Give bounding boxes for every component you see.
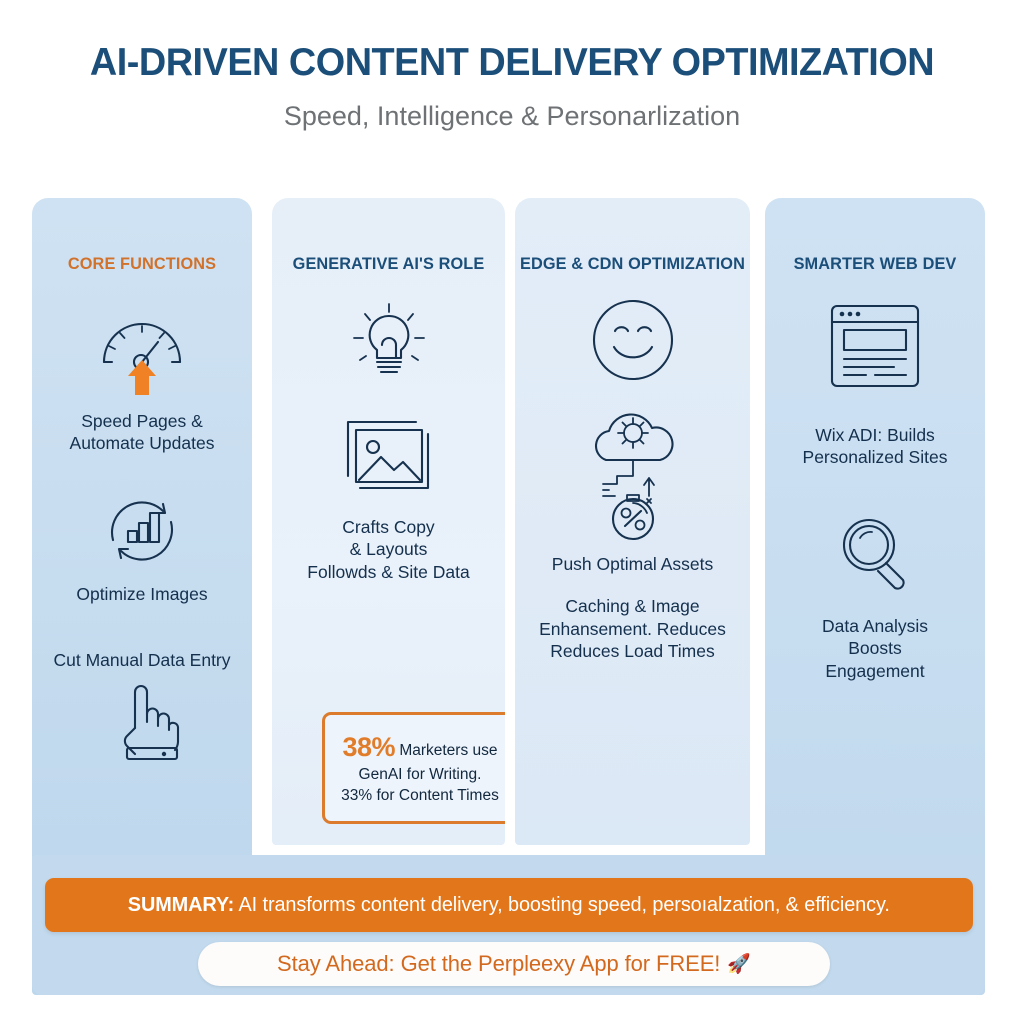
caption-core-2: Optimize Images	[32, 583, 252, 605]
summary-bar: SUMMARY: AI transforms content delivery,…	[45, 878, 973, 932]
page-title: AI-DRIVEN CONTENT DELIVERY OPTIMIZATION	[15, 42, 1008, 85]
caption-line: Speed Pages &	[40, 410, 244, 432]
caption-genai: Crafts Copy & Layouts Followds & Site Da…	[272, 516, 505, 583]
caption-line: Push Optimal Assets	[523, 553, 742, 575]
caption-line: Reduces Load Times	[523, 640, 742, 662]
caption-core-3: Cut Manual Data Entry	[32, 649, 252, 671]
smiley-face-icon	[515, 290, 750, 390]
caption-line: Followds & Site Data	[280, 561, 497, 583]
caption-line: Personalized Sites	[773, 446, 977, 468]
browser-window-icon	[765, 298, 985, 394]
summary-body: AI transforms content delivery, boosting…	[234, 893, 890, 916]
pointing-hand-icon	[32, 678, 252, 762]
magnifying-glass-icon	[765, 509, 985, 601]
columns-container: CORE FUNCTIONS Speed Pages & Automate Up…	[32, 198, 985, 848]
cta-label: Stay Ahead: Get the Perpleexy App for FR…	[277, 951, 720, 977]
caption-line: Optimize Images	[40, 583, 244, 605]
poster-header: AI-DRIVEN CONTENT DELIVERY OPTIMIZATION …	[0, 42, 1024, 132]
caption-line: Automate Updates	[40, 432, 244, 454]
stat-text-line-3: 33% for Content Times	[341, 787, 499, 804]
page-subtitle: Speed, Intelligence & Personarlization	[0, 101, 1024, 132]
stat-text-line-2: GenAI for Writing.	[359, 766, 482, 783]
column-edge-cdn-optimization: EDGE & CDN OPTIMIZATION	[515, 198, 750, 845]
summary-text: SUMMARY: AI transforms content delivery,…	[128, 893, 890, 917]
caption-line: Engagement	[773, 660, 977, 682]
lightbulb-icon	[272, 296, 505, 392]
caption-core-1: Speed Pages & Automate Updates	[32, 410, 252, 455]
stat-value: 38%	[342, 732, 395, 762]
caption-webdev-1: Wix ADI: Builds Personalized Sites	[765, 424, 985, 469]
caption-webdev-2: Data Analysis Boosts Engagement	[765, 615, 985, 682]
column-heading-core-functions: CORE FUNCTIONS	[36, 254, 247, 274]
column-generative-ai-role: GENERATIVE AI'S ROLE	[272, 198, 505, 845]
caption-line: & Layouts	[280, 538, 497, 560]
column-heading-generative-ai-role: GENERATIVE AI'S ROLE	[277, 254, 501, 274]
column-heading-edge-cdn-optimization: EDGE & CDN OPTIMIZATION	[520, 254, 746, 274]
stat-text-line-1: Marketers use	[399, 742, 497, 759]
stat-box-genai: 38% Marketers use GenAI for Writing. 33%…	[322, 712, 505, 824]
caption-edge-2: Caching & Image Enhansement. Reduces Red…	[515, 595, 750, 662]
column-heading-smarter-web-dev: SMARTER WEB DEV	[769, 254, 980, 274]
refresh-bar-chart-icon	[32, 491, 252, 571]
caption-line: Caching & Image	[523, 595, 742, 617]
caption-edge-1: Push Optimal Assets	[515, 553, 750, 575]
image-stack-icon	[272, 410, 505, 500]
rocket-icon: 🚀	[727, 952, 751, 976]
caption-line: Cut Manual Data Entry	[40, 649, 244, 671]
infographic-poster: AI-DRIVEN CONTENT DELIVERY OPTIMIZATION …	[0, 0, 1024, 1024]
summary-label: SUMMARY:	[128, 893, 234, 916]
caption-line: Crafts Copy	[280, 516, 497, 538]
caption-line: Data Analysis	[773, 615, 977, 637]
cta-button[interactable]: Stay Ahead: Get the Perpleexy App for FR…	[198, 942, 830, 986]
caption-line: Wix ADI: Builds	[773, 424, 977, 446]
caption-line: Boosts	[773, 637, 977, 659]
caption-line: Enhansement. Reduces	[523, 618, 742, 640]
cloud-gear-stopwatch-icon	[515, 400, 750, 545]
speedometer-arrow-icon	[32, 300, 252, 396]
